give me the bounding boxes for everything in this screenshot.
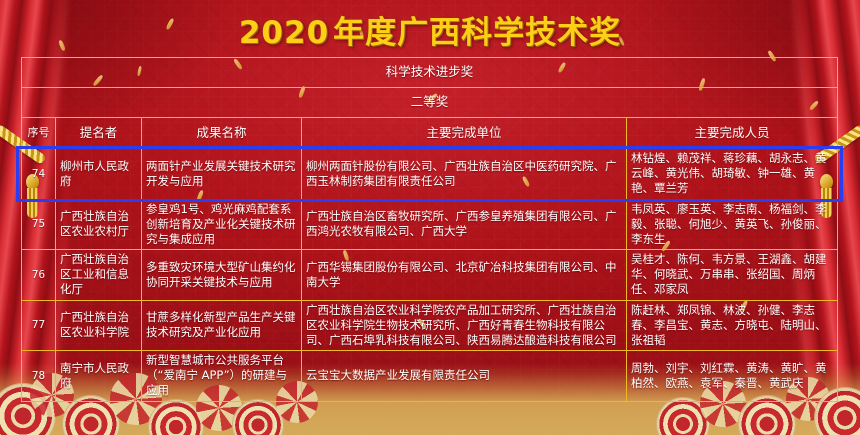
row-people: 韦凤英、廖玉英、李志南、杨福剑、李毅、张聪、何旭少、黄英飞、孙俊丽、李东生: [627, 199, 838, 250]
row-units: 广西华锡集团股份有限公司、北京矿冶科技集团有限公司、中南大学: [302, 250, 627, 301]
column-header-no: 序号: [22, 118, 56, 149]
column-header-nominator: 提名者: [56, 118, 142, 149]
row-units: 云宝宝大数据产业发展有限责任公司: [302, 351, 627, 402]
row-no: 75: [22, 199, 56, 250]
column-header-achievement: 成果名称: [142, 118, 302, 149]
award-category-label: 科学技术进步奖: [22, 58, 838, 88]
row-no: 78: [22, 351, 56, 402]
row-units: 广西壮族自治区畜牧研究所、广西参皇养殖集团有限公司、广西鸿光农牧有限公司、广西大…: [302, 199, 627, 250]
row-units: 广西壮族自治区农业科学院农产品加工研究所、广西壮族自治区农业科学院生物技术研究所…: [302, 300, 627, 351]
row-no: 77: [22, 300, 56, 351]
title-text: 年度广西科学技术奖: [333, 15, 621, 51]
row-people: 陈赶林、郑凤锦、林波、孙健、李志春、李昌宝、黄志、方晓屯、陆明山、张祖韬: [627, 300, 838, 351]
row-nominator: 南宁市人民政府: [56, 351, 142, 402]
row-people: 林钻煌、赖茂祥、蒋珍藕、胡永志、黄云峰、黄光伟、胡琦敏、钟一雄、黄艳、覃兰芳: [627, 149, 838, 200]
row-achievement: 新型智慧城市公共服务平台（“爱南宁 APP”）的研建与应用: [142, 351, 302, 402]
page-title: 2020年度广西科学技术奖: [0, 6, 860, 52]
column-header-units: 主要完成单位: [302, 118, 627, 149]
award-table-container: 科学技术进步奖 二等奖 序号 提名者 成果名称 主要完成单位 主要完成人员 74…: [21, 57, 838, 402]
row-no: 74: [22, 149, 56, 200]
award-table: 科学技术进步奖 二等奖 序号 提名者 成果名称 主要完成单位 主要完成人员 74…: [21, 57, 838, 402]
table-row[interactable]: 76 广西壮族自治区工业和信息化厅 多重致灾环境大型矿山集约化协同开采关键技术与…: [22, 250, 838, 301]
row-no: 76: [22, 250, 56, 301]
row-achievement: 两面针产业发展关键技术研究开发与应用: [142, 149, 302, 200]
row-achievement: 参皇鸡1号、鸡光麻鸡配套系创新培育及产业化关键技术研究与集成应用: [142, 199, 302, 250]
title-year: 2020: [239, 15, 329, 51]
table-band-grade: 二等奖: [22, 88, 838, 118]
table-row[interactable]: 78 南宁市人民政府 新型智慧城市公共服务平台（“爱南宁 APP”）的研建与应用…: [22, 351, 838, 402]
row-nominator: 广西壮族自治区工业和信息化厅: [56, 250, 142, 301]
row-nominator: 柳州市人民政府: [56, 149, 142, 200]
table-row[interactable]: 77 广西壮族自治区农业科学院 甘蔗多样化新型产品生产关键技术研究及产业化应用 …: [22, 300, 838, 351]
row-achievement: 甘蔗多样化新型产品生产关键技术研究及产业化应用: [142, 300, 302, 351]
table-band-category: 科学技术进步奖: [22, 58, 838, 88]
column-header-people: 主要完成人员: [627, 118, 838, 149]
table-header-row: 序号 提名者 成果名称 主要完成单位 主要完成人员: [22, 118, 838, 149]
row-nominator: 广西壮族自治区农业科学院: [56, 300, 142, 351]
row-achievement: 多重致灾环境大型矿山集约化协同开采关键技术与应用: [142, 250, 302, 301]
row-people: 周勃、刘宇、刘红霖、黄涛、黄旷、黄柏然、欧燕、袁军、秦晋、黄武庆: [627, 351, 838, 402]
table-row[interactable]: 75 广西壮族自治区农业农村厅 参皇鸡1号、鸡光麻鸡配套系创新培育及产业化关键技…: [22, 199, 838, 250]
row-people: 吴桂才、陈何、韦方景、王湖鑫、胡建华、何晓武、万串串、张绍国、周炳任、邓家凤: [627, 250, 838, 301]
award-grade-label: 二等奖: [22, 88, 838, 118]
table-row[interactable]: 74 柳州市人民政府 两面针产业发展关键技术研究开发与应用 柳州两面针股份有限公…: [22, 149, 838, 200]
row-units: 柳州两面针股份有限公司、广西壮族自治区中医药研究院、广西玉林制药集团有限责任公司: [302, 149, 627, 200]
row-nominator: 广西壮族自治区农业农村厅: [56, 199, 142, 250]
